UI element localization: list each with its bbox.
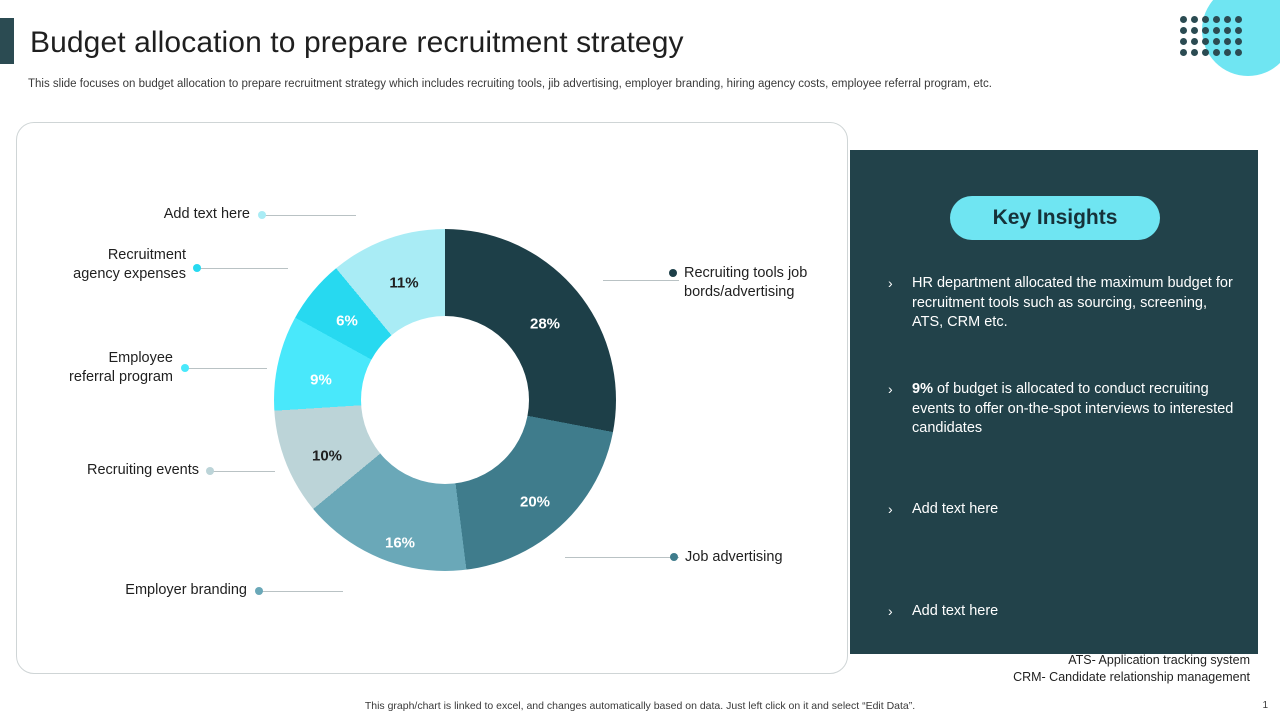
abbreviation-ats: ATS- Application tracking system <box>1068 653 1250 667</box>
insight-item-3: › Add text here <box>888 602 1240 622</box>
key-insights-panel: Key Insights › HR department allocated t… <box>850 150 1258 654</box>
page-number: 1 <box>1262 700 1268 711</box>
slice-value-6: 11% <box>389 275 418 292</box>
callout-label-employer-branding: Employer branding <box>61 581 247 600</box>
insight-item-1: › 9% of budget is allocated to conduct r… <box>888 380 1240 439</box>
slice-value-0: 28% <box>530 316 560 333</box>
slice-value-3: 10% <box>312 448 342 465</box>
leader-line-right-0 <box>603 280 679 281</box>
callout-label-employee-referral: Employee referral program <box>7 349 173 387</box>
callout-label-line1: Recruiting tools job <box>684 265 807 281</box>
callout-label-line2: bords/advertising <box>684 284 794 300</box>
insight-text-1-prefix: 9% <box>912 381 933 397</box>
leader-line-left-4 <box>261 591 343 592</box>
callout-bullet-left-2 <box>181 364 189 372</box>
callout-label-line2: agency expenses <box>73 266 186 282</box>
leader-line-left-3 <box>213 471 275 472</box>
callout-bullet-left-0 <box>258 211 266 219</box>
chevron-right-icon: › <box>888 274 893 294</box>
insight-text-1-body: of budget is allocated to conduct recrui… <box>912 381 1233 436</box>
leader-line-left-2 <box>187 368 267 369</box>
decorative-dot-grid <box>1180 16 1246 60</box>
leader-line-right-1 <box>565 557 679 558</box>
callout-label-agency-expenses: Recruitment agency expenses <box>11 246 186 284</box>
chevron-right-icon: › <box>888 602 893 622</box>
callout-label-recruiting-events: Recruiting events <box>31 461 199 480</box>
insight-text-1: 9% of budget is allocated to conduct rec… <box>912 380 1240 439</box>
callout-label-line1: Recruitment <box>108 247 186 263</box>
key-insights-pill: Key Insights <box>950 196 1160 240</box>
insight-item-0: › HR department allocated the maximum bu… <box>888 274 1240 333</box>
slice-value-5: 6% <box>336 313 358 330</box>
callout-label-line2: referral program <box>69 369 173 385</box>
callout-label-line1: Employee <box>109 350 173 366</box>
insight-text-3: Add text here <box>912 602 1240 622</box>
callout-bullet-left-4 <box>255 587 263 595</box>
callout-label-recruiting-tools: Recruiting tools job bords/advertising <box>684 264 807 302</box>
callout-bullet-left-3 <box>206 467 214 475</box>
leader-line-left-1 <box>200 268 288 269</box>
page-title: Budget allocation to prepare recruitment… <box>30 26 684 60</box>
callout-bullet-right-0 <box>669 269 677 277</box>
chart-card: 28% 20% 16% 10% 9% 6% 11% Recruiting too… <box>16 122 848 674</box>
donut-chart[interactable]: 28% 20% 16% 10% 9% 6% 11% <box>274 229 616 571</box>
callout-label-job-advertising: Job advertising <box>685 548 783 567</box>
slice-value-1: 20% <box>520 494 550 511</box>
abbreviation-crm: CRM- Candidate relationship management <box>1013 670 1250 684</box>
chevron-right-icon: › <box>888 500 893 520</box>
title-accent-bar <box>0 18 14 64</box>
insight-text-2: Add text here <box>912 500 1240 520</box>
slice-value-2: 16% <box>385 535 415 552</box>
slice-value-4: 9% <box>310 372 332 389</box>
excel-link-note: This graph/chart is linked to excel, and… <box>0 700 1280 712</box>
chevron-right-icon: › <box>888 380 893 400</box>
donut-hole <box>361 316 529 484</box>
page-subtitle: This slide focuses on budget allocation … <box>28 78 992 90</box>
callout-bullet-left-1 <box>193 264 201 272</box>
callout-label-add-text-here-1: Add text here <box>53 205 250 224</box>
leader-line-left-0 <box>264 215 356 216</box>
callout-bullet-right-1 <box>670 553 678 561</box>
insight-item-2: › Add text here <box>888 500 1240 520</box>
insight-text-0: HR department allocated the maximum budg… <box>912 274 1240 333</box>
